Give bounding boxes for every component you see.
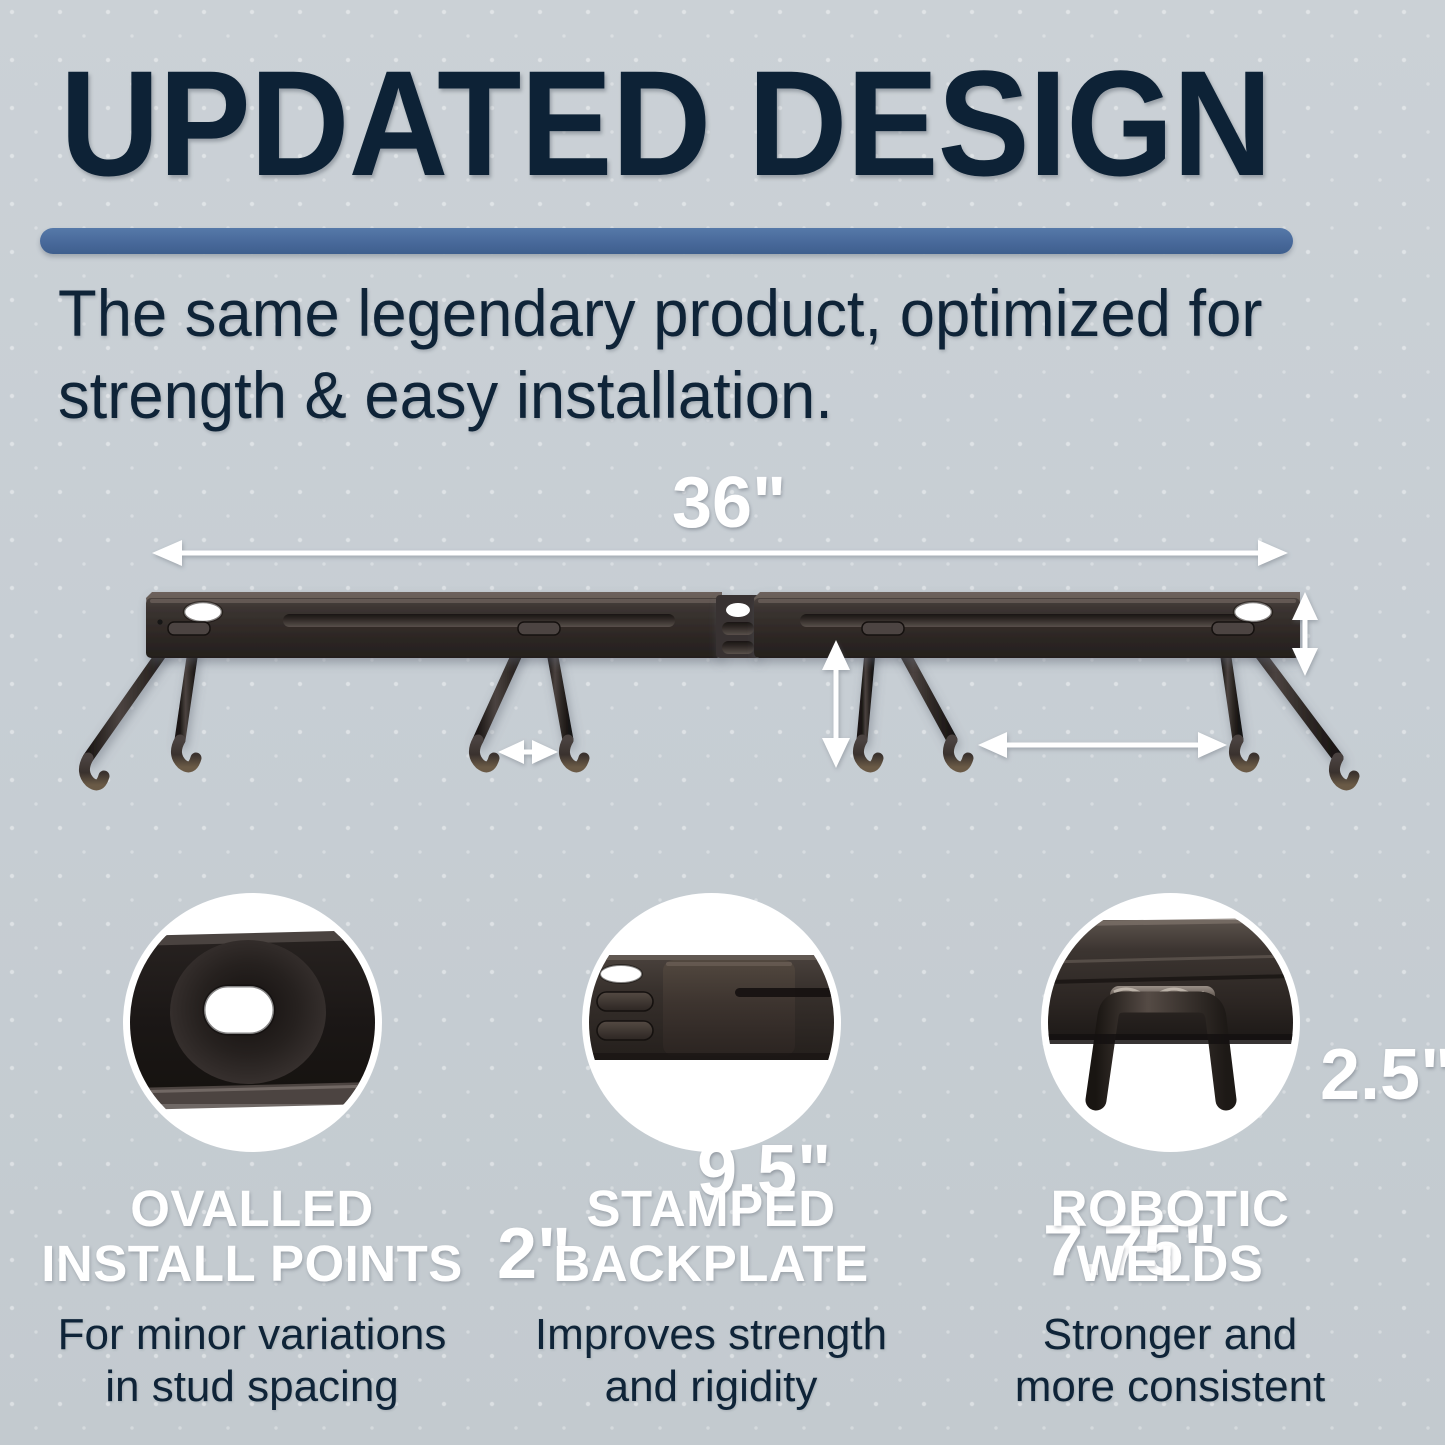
feature-image-circle-1 bbox=[130, 900, 375, 1145]
feature-title-3: ROBOTIC WELDS bbox=[940, 1181, 1400, 1291]
robotic-weld-icon bbox=[1048, 900, 1293, 1145]
infographic-page: UPDATED DESIGN The same legendary produc… bbox=[0, 0, 1445, 1445]
stamped-backplate-icon bbox=[589, 900, 834, 1145]
feature-robotic-welds: ROBOTIC WELDS Stronger and more consiste… bbox=[940, 900, 1400, 1413]
product-illustration: 36" 2.5" 9.5" 2" 7.75" bbox=[0, 440, 1445, 880]
page-title: UPDATED DESIGN bbox=[60, 48, 1271, 198]
ovalled-mounting-hole-icon bbox=[130, 900, 375, 1145]
feature-description-1: For minor variations in stud spacing bbox=[22, 1309, 482, 1413]
feature-title-1: OVALLED INSTALL POINTS bbox=[22, 1181, 482, 1291]
feature-image-circle-3 bbox=[1048, 900, 1293, 1145]
feature-description-3: Stronger and more consistent bbox=[940, 1309, 1400, 1413]
feature-image-circle-2 bbox=[589, 900, 834, 1145]
feature-ovalled-install-points: OVALLED INSTALL POINTS For minor variati… bbox=[22, 900, 482, 1413]
feature-description-2: Improves strength and rigidity bbox=[481, 1309, 941, 1413]
dimension-label-length: 36" bbox=[672, 462, 786, 544]
page-subtitle: The same legendary product, optimized fo… bbox=[58, 272, 1316, 436]
feature-title-2: STAMPED BACKPLATE bbox=[481, 1181, 941, 1291]
feature-stamped-backplate: STAMPED BACKPLATE Improves strength and … bbox=[481, 900, 941, 1413]
title-underline-bar bbox=[40, 228, 1293, 254]
